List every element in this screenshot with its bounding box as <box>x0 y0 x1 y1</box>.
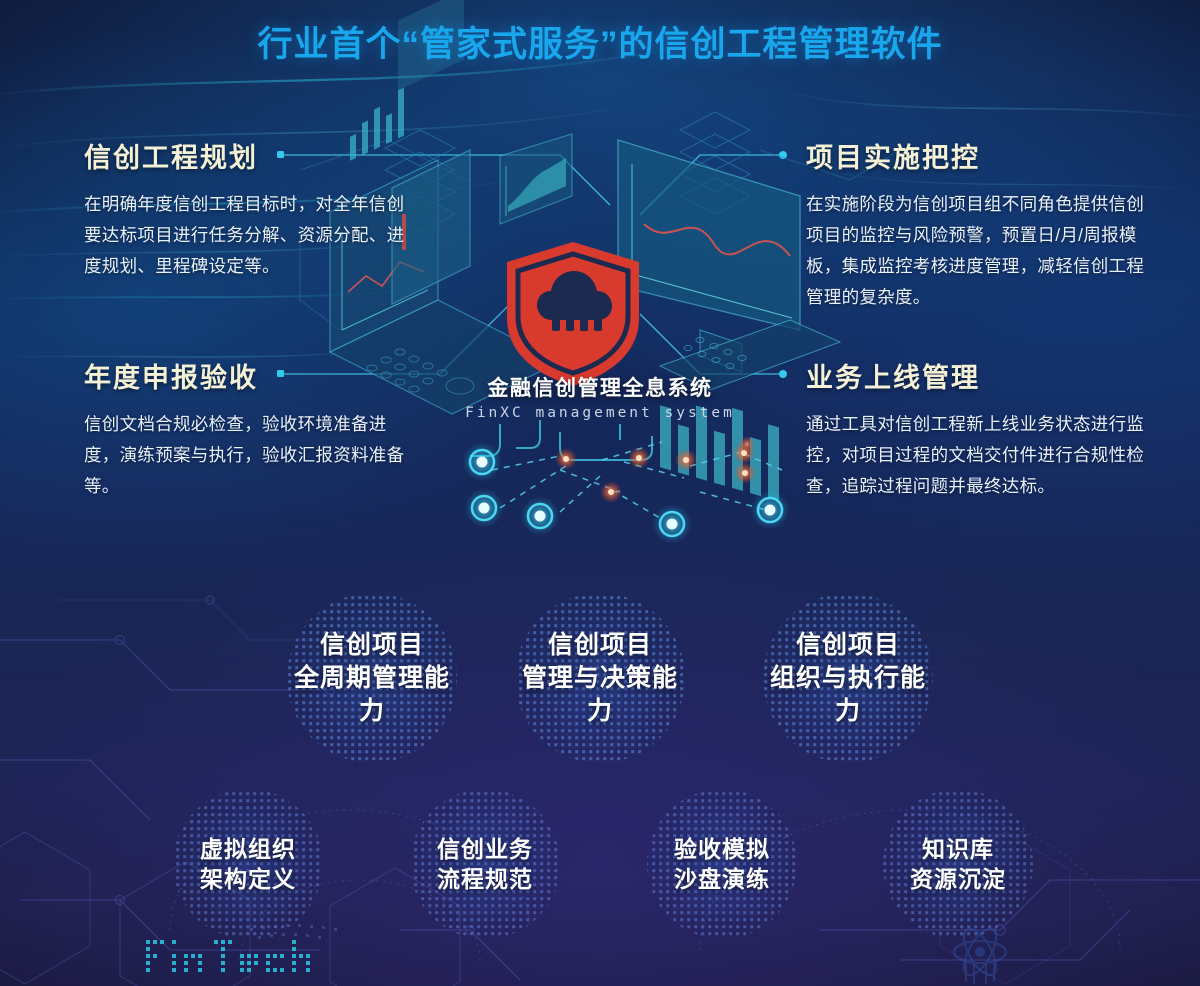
orange-node <box>739 436 755 452</box>
sphere-line1: 信创项目 <box>515 629 685 662</box>
sphere-line1: 信创项目 <box>287 629 457 662</box>
feature-heading-implementation: 项目实施把控 <box>806 136 1146 175</box>
orange-node <box>733 442 755 464</box>
sphere-line2: 架构定义 <box>200 864 296 894</box>
cyan-node <box>464 488 504 528</box>
sphere-line2: 管理与决策能力 <box>515 662 685 728</box>
cyan-node <box>520 496 560 536</box>
system-caption: 金融信创管理全息系统 FinXC management system <box>0 372 1200 421</box>
module-sphere[interactable]: 信创业务 流程规范 <box>410 789 560 939</box>
module-sphere-label: 虚拟组织 架构定义 <box>200 834 296 895</box>
floating-chart-panel <box>500 134 572 224</box>
capability-sphere[interactable]: 信创项目 管理与决策能力 <box>515 593 685 763</box>
feature-body-implementation: 在实施阶段为信创项目组不同角色提供信创项目的监控与风险预警，预置日/月/周报模板… <box>806 189 1146 313</box>
system-name-en: FinXC management system <box>0 405 1200 421</box>
fintech-watermark <box>146 940 310 972</box>
cyan-node <box>652 504 692 544</box>
module-sphere[interactable]: 验收模拟 沙盘演练 <box>647 789 797 939</box>
capability-sphere-label: 信创项目 全周期管理能力 <box>287 629 457 728</box>
capability-sphere[interactable]: 信创项目 全周期管理能力 <box>287 593 457 763</box>
sphere-line1: 信创项目 <box>763 629 933 662</box>
system-name-cn: 金融信创管理全息系统 <box>0 372 1200 402</box>
sphere-line1: 虚拟组织 <box>200 834 296 864</box>
cyan-node <box>750 490 790 530</box>
sphere-line2: 流程规范 <box>437 864 533 894</box>
feature-block-plan: 信创工程规划 在明确年度信创工程目标时，对全年信创要达标项目进行任务分解、资源分… <box>84 136 414 282</box>
capability-sphere-label: 信创项目 管理与决策能力 <box>515 629 685 728</box>
sphere-line1: 知识库 <box>910 834 1006 864</box>
shield-cloud-chart-icon <box>507 242 639 386</box>
module-sphere-label: 验收模拟 沙盘演练 <box>674 834 770 895</box>
feature-body-online: 通过工具对信创工程新上线业务状态进行监控，对项目过程的文档交付件进行合规性检查，… <box>806 409 1146 502</box>
feature-block-implementation: 项目实施把控 在实施阶段为信创项目组不同角色提供信创项目的监控与风险预警，预置日… <box>806 136 1146 313</box>
sphere-line1: 验收模拟 <box>674 834 770 864</box>
cyan-node <box>462 442 502 482</box>
capability-sphere-label: 信创项目 组织与执行能力 <box>763 629 933 728</box>
sphere-line2: 沙盘演练 <box>674 864 770 894</box>
orange-node <box>675 449 697 471</box>
network-dashed-links <box>492 442 782 518</box>
sphere-line2: 组织与执行能力 <box>763 662 933 728</box>
network-node-glows <box>462 436 790 544</box>
orange-node <box>734 462 756 484</box>
orange-node <box>555 448 577 470</box>
module-sphere-label: 知识库 资源沉淀 <box>910 834 1006 895</box>
page-title: 行业首个“管家式服务”的信创工程管理软件 <box>0 16 1200 67</box>
feature-body-plan: 在明确年度信创工程目标时，对全年信创要达标项目进行任务分解、资源分配、进度规划、… <box>84 189 414 282</box>
capability-sphere[interactable]: 信创项目 组织与执行能力 <box>763 593 933 763</box>
orange-node <box>628 447 650 469</box>
module-sphere[interactable]: 虚拟组织 架构定义 <box>173 789 323 939</box>
orange-node <box>600 481 622 503</box>
module-sphere-label: 信创业务 流程规范 <box>437 834 533 895</box>
sphere-line2: 全周期管理能力 <box>287 662 457 728</box>
feature-body-acceptance: 信创文档合规必检查，验收环境准备进度，演练预案与执行，验收汇报资料准备等。 <box>84 409 414 502</box>
sphere-line2: 资源沉淀 <box>910 864 1006 894</box>
sphere-line1: 信创业务 <box>437 834 533 864</box>
module-sphere[interactable]: 知识库 资源沉淀 <box>883 789 1033 939</box>
infographic-canvas: 行业首个“管家式服务”的信创工程管理软件 信创工程规划 在明确年度信创工程目标时… <box>0 0 1200 986</box>
feature-heading-plan: 信创工程规划 <box>84 136 414 175</box>
